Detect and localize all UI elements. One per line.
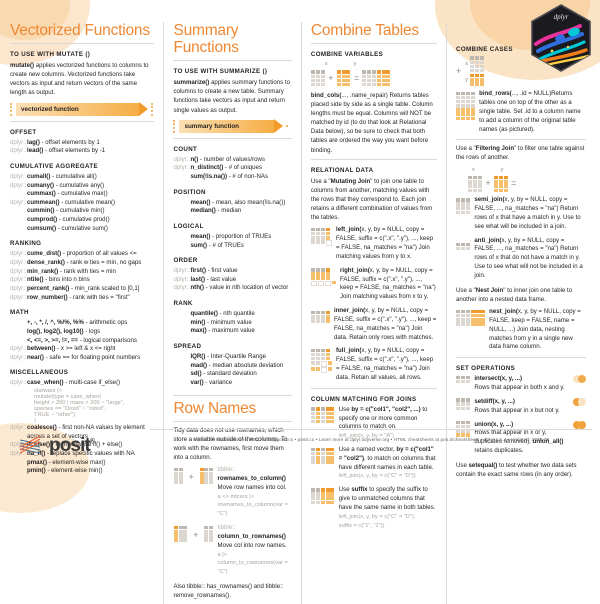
divider [456,139,586,140]
filtering-join-figure: + = [468,176,586,193]
fn-name: cummax() [27,190,56,197]
fn-name: lead() [27,147,43,154]
entry-intersect: intersect(x, y, ...)Rows that appear in … [456,375,586,393]
divider [311,388,437,389]
entry-suffix: Use suffix to specify the suffix to give… [311,486,437,530]
pkg-label: dplyr:: [10,354,27,363]
pkg-label [10,225,27,234]
fn-name: full_join( [336,347,361,354]
fn-name: mean() [190,199,210,206]
fn-name: dense_rank() [27,259,65,266]
divider [173,138,291,139]
dots-right [151,103,154,116]
column-vectorized-functions: Vectorized Functions TO USE WITH MUTATE … [10,22,164,604]
column-combine-tables: Combine Tables COMBINE VARIABLES x y + [302,22,447,604]
pkg-label [10,328,27,337]
summarize-fn-name: summarize() [173,79,209,86]
footer-divider [150,429,592,430]
entry-anti-join: anti_join(x, y, by = NULL, copy = FALSE,… [456,237,586,281]
list-order: dplyr::first() - first value dplyr::last… [173,267,291,293]
fn-name: mean() [190,233,210,240]
table-glyph-x [311,70,325,87]
fn-name: near() [27,354,44,361]
section-title-vectorized-functions: Vectorized Functions [10,22,154,39]
list-logical: mean() - proportion of TRUEs sum() - # o… [173,233,291,250]
summarize-description: summarize() applies summary functions to… [173,78,291,115]
posit-logomark-icon [18,435,44,455]
fn-name: bind_rows( [479,90,512,97]
nest-join-intro: Use a "Nest Join" to inner join one tabl… [456,286,586,304]
list-math: +, -, *, /, ^, %/%, %% - arithmetic ops … [10,319,154,362]
heading-position: POSITION [173,189,291,196]
list-offset: dplyr::lag() - offset elements by 1 dply… [10,139,154,156]
fn-name: median() [190,207,215,214]
divider [10,43,154,44]
heading-to-use-with-mutate: TO USE WITH MUTATE () [10,51,154,58]
entry-setdiff: setdiff(x, y, ...)Rows that appear in x … [456,398,586,416]
fn-name: intersect(x, y, ...) [474,375,522,382]
pkg-label: dplyr:: [173,156,190,165]
fn-name: row_number() [27,294,68,301]
venn-setdiff-icon [573,398,586,406]
summary-function-label: summary function [179,123,239,130]
dot-right [286,125,289,128]
table-glyph-intersect [456,375,470,383]
fn-name: cummean() [27,199,60,206]
table-glyph-suffix [311,488,335,505]
pkg-label: dplyr:: [10,250,27,259]
pkg-label: dplyr:: [10,345,27,354]
entry-bind-rows: bind_rows(..., .id = NULL)Returns tables… [456,90,586,134]
fn-name: cummin() [27,207,54,214]
fn-name: inner_join( [334,307,365,314]
fn-name: rownames_to_column() [218,475,286,482]
heading-math: MATH [10,309,154,316]
fn-name: nest_join( [489,308,518,315]
column-combine-cases: COMBINE CASES + x y [447,22,590,604]
fn-name: sum() [190,242,207,249]
heading-count: COUNT [173,146,291,153]
table-glyph-y [336,70,350,87]
entry-right-join: right_join(x, y, by = NULL, copy = FALSE… [311,267,437,302]
label-y: y [465,77,468,83]
fn-name: left_join( [336,226,361,233]
table-glyph-bind-rows-result [456,91,475,120]
venn-intersect-icon [573,375,586,383]
fn-name: var() [190,379,203,386]
label-x: x [472,167,475,173]
arrow-tip-icon [139,102,148,116]
posit-wordmark: posit® [49,436,94,455]
list-cumulative: dplyr::cumall() - cumulative all() dplyr… [10,173,154,233]
fn-name: quantile() [190,310,217,317]
rownames-also-note: Also tibble:: has_rownames() and tibble:… [173,582,291,600]
table-glyph-left-join [311,227,332,246]
fn-name: cumsum() [27,225,56,232]
table-glyph-x [468,176,482,193]
case-when-code-block: starwars |> mutate(type = case_when( hei… [34,388,154,424]
divider [311,159,437,160]
divider [311,43,437,44]
fn-name: first() [190,267,206,274]
list-ranking: dplyr::cume_dist() - proportion of all v… [10,250,154,302]
fn-name: sum(!is.na()) [190,173,227,180]
fn-name: sd() [190,370,201,377]
fn-name: cumprod() [27,216,57,223]
vectorized-function-figure: vectorized function [10,103,154,116]
fn-name: n_distinct() [190,164,223,171]
table-glyph-highlight [173,526,187,543]
pkg-label [10,467,27,476]
fn-name: min_rank() [27,268,58,275]
column-summary-functions: Summary Functions TO USE WITH SUMMARIZE … [164,22,301,604]
equals-icon: = [354,74,359,83]
fn-name: +, -, *, /, ^, %/%, %% [27,319,84,326]
posit-logo: posit® [18,435,94,455]
pkg-label: dplyr:: [173,267,190,276]
pkg-label: dplyr:: [10,268,27,277]
fn-name: last() [190,276,205,283]
table-glyph-y [470,74,484,87]
hex-label: dplyr [554,13,569,21]
table-glyph-x [470,56,484,73]
table-glyph-semi-join [456,198,470,215]
table-glyph-result [362,70,391,87]
table-glyph-y [494,176,508,193]
fn-name: column_to_rownames() [218,533,286,540]
pkg-label: dplyr:: [10,139,27,148]
plus-icon: + [485,179,490,188]
divider [456,357,586,358]
table-glyph-anti-join [456,242,470,250]
fn-name: mad() [190,362,207,369]
section-title-row-names: Row Names [173,400,291,417]
pkg-label: dplyr:: [10,285,27,294]
fn-name: setdiff(x, y, ...) [474,398,515,405]
bind-cols-description: bind_cols(..., .name_repair) Returns tab… [311,91,437,155]
table-glyph-plain [204,526,214,543]
pkg-label: dplyr:: [173,164,190,173]
fn-name: cume_dist() [27,250,61,257]
divider [10,121,154,122]
heading-miscellaneous: MISCELLANEOUS [10,369,154,376]
pkg-label: dplyr:: [10,259,27,268]
section-title-summary-functions: Summary Functions [173,22,291,56]
heading-relational-data: RELATIONAL DATA [311,167,437,174]
pkg-label: dplyr:: [10,147,27,156]
label-x: x [465,61,468,67]
pkg-label [10,337,27,346]
pkg-label: dplyr:: [10,379,27,388]
fn-name: anti_join( [474,237,501,244]
heading-ranking: RANKING [10,240,154,247]
plus-icon: + [456,67,461,76]
divider [173,60,291,61]
fn-name: log(), log2(), log10() [27,328,84,335]
setequal-note: Use setequal() to test whether two data … [456,461,586,479]
table-glyph-highlight [199,468,213,485]
bind-cols-figure: + = [311,70,437,87]
pkg-label: tibble:: [218,466,236,473]
pkg-label [10,207,27,216]
mutate-fn-name: mutate() [10,62,34,69]
divider [173,395,291,396]
table-glyph-inner-join [311,311,330,324]
table-glyph-pair: + [173,466,213,485]
table-glyph-right-join [311,268,336,287]
pkg-label: dplyr:: [10,276,27,285]
list-rank: quantile() - nth quantile min() - minimu… [173,310,291,336]
heading-cumulative-aggregate: CUMULATIVE AGGREGATE [10,163,154,170]
list-count: dplyr::n() - number of values/rows dplyr… [173,156,291,182]
divider [173,421,291,422]
dots-left [10,103,13,116]
suffix-arg: suffix [351,486,367,493]
pkg-label: dplyr:: [173,284,190,293]
pkg-label [10,216,27,225]
table-glyph-pair: + [173,524,213,543]
pkg-label: tibble:: [218,524,236,531]
table-glyph-setdiff [456,398,470,411]
entry-nest-join: nest_join(x, y, by = NULL, copy = FALSE,… [456,308,586,352]
label-y: y [354,61,357,67]
entry-full-join: full_join(x, y, by = NULL, copy = FALSE,… [311,347,437,382]
label-x: x [325,61,328,67]
heading-column-matching: COLUMN MATCHING FOR JOINS [311,396,437,403]
entry-left-join: left_join(x, y, by = NULL, copy = FALSE,… [311,226,437,261]
pkg-label: dplyr:: [10,173,27,182]
entry-semi-join: semi_join(x, y, by = NULL, copy = FALSE,… [456,196,586,231]
heading-to-use-with-summarize: TO USE WITH SUMMARIZE () [173,68,291,75]
pkg-label [10,190,27,199]
mutating-join-intro: Use a "Mutating Join" to join one table … [311,177,437,223]
pkg-label [10,319,27,328]
heading-order: ORDER [173,257,291,264]
table-glyph-nest-join [456,309,485,326]
table-glyph-full-join [311,348,332,373]
heading-offset: OFFSET [10,129,154,136]
fn-name: nth() [190,284,204,291]
fn-name: cumany() [27,182,54,189]
list-position: mean() - mean, also mean(!is.na()) media… [173,199,291,216]
fn-name: bind_cols( [311,92,341,99]
table-glyph-by-common [311,407,335,424]
section-title-combine-tables: Combine Tables [311,22,437,39]
arrow-tip-icon [274,119,283,133]
table-glyph-plain [173,468,183,485]
fn-name: cumall() [27,173,50,180]
heading-spread: SPREAD [173,343,291,350]
mutate-description: mutate() applies vectorized functions to… [10,61,154,98]
pkg-label: dplyr:: [173,276,190,285]
summary-function-figure: summary function [173,120,291,133]
heading-logical: LOGICAL [173,223,291,230]
heading-rank: RANK [173,300,291,307]
fn-name: semi_join( [474,196,504,203]
fn-name: lag() [27,139,40,146]
fn-name: IQR() [190,353,205,360]
fn-name: case_when() [27,379,64,386]
equals-icon: = [511,179,516,188]
label-y: y [501,167,504,173]
fn-name: right_join( [340,267,370,274]
footer: CC BY SA Posit Software, PBC • info@posi… [0,423,600,463]
entry-rownames-to-column: + tibble:: rownames_to_column() Move row… [173,466,291,519]
heading-combine-variables: COMBINE VARIABLES [311,51,437,58]
fn-name: pmin() [27,467,46,474]
filtering-join-intro: Use a "Filtering Join" to filter one tab… [456,144,586,162]
footer-text: CC BY SA Posit Software, PBC • info@posi… [150,437,592,442]
pkg-label: dplyr:: [10,182,27,191]
dots-left [173,120,176,133]
fn-name: min() [190,319,205,326]
cheatsheet-page: dplyr Vectorized Functions TO USE WITH M… [0,0,600,463]
dplyr-hex-logo: dplyr [530,4,592,72]
pkg-label: dplyr:: [10,199,27,208]
fn-name: between() [27,345,55,352]
heading-set-operations: SET OPERATIONS [456,365,586,372]
plus-icon: + [328,74,333,83]
list-spread: IQR() - Inter-Quartile Range mad() - med… [173,353,291,388]
by-arg: by = c("col1", "col2", ...) [351,406,420,413]
fn-name: max() [190,327,206,334]
fn-name: percent_rank() [27,285,69,292]
fn-name: <, <=, >, >=, !=, == [27,337,78,344]
pkg-label: dplyr:: [10,294,27,303]
fn-name: ntile() [27,276,44,283]
entry-column-to-rownames: + tibble:: column_to_rownames() Move col… [173,524,291,577]
entry-inner-join: inner_join(x, y, by = NULL, copy = FALSE… [311,307,437,342]
vectorized-function-label: vectorized function [16,106,79,113]
